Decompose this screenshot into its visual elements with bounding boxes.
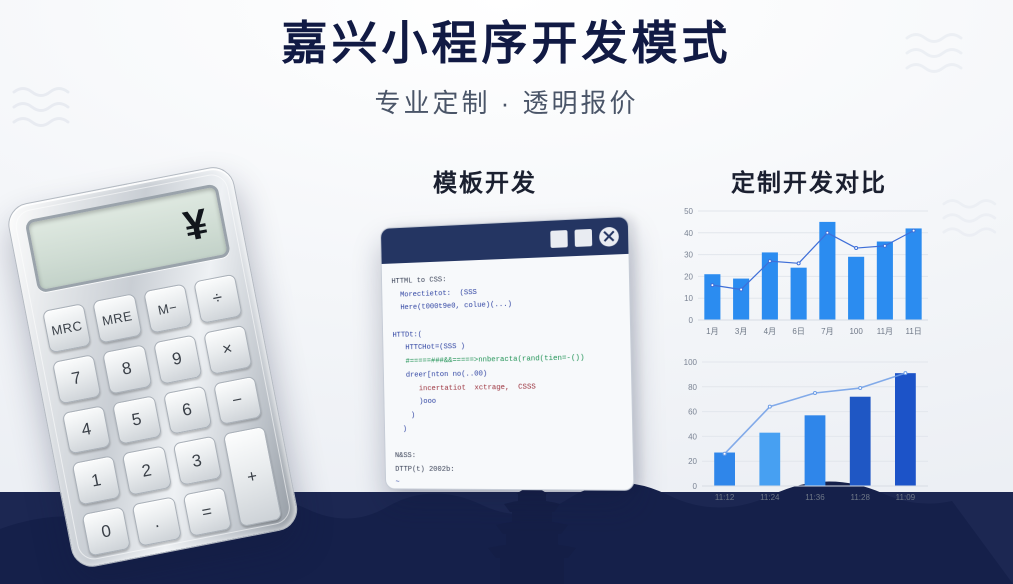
svg-text:11:36: 11:36 (805, 493, 825, 502)
calc-key-2[interactable]: 2 (122, 446, 172, 496)
svg-text:100: 100 (684, 358, 698, 367)
code-line: N&SS: (395, 452, 416, 460)
calculator: ¥ MRC MRE M− ÷ 7 8 9 × 4 5 6 − 1 2 3 + 0 (5, 150, 376, 584)
calc-key-subtract[interactable]: − (213, 375, 263, 425)
calc-key-add[interactable]: + (223, 426, 283, 527)
code-line: #=====###&&=====>nnberacta(rand(tien=-()… (393, 354, 585, 366)
code-line: HTTDt:( (392, 331, 422, 340)
svg-text:11:24: 11:24 (760, 493, 780, 502)
svg-text:30: 30 (684, 251, 693, 260)
svg-text:7月: 7月 (821, 327, 833, 336)
chart-compare-monthly: 010203040501月3月4月6日7月10011月11日 (672, 205, 934, 340)
calculator-keypad: MRC MRE M− ÷ 7 8 9 × 4 5 6 − 1 2 3 + 0 .… (42, 274, 282, 557)
calc-key-6[interactable]: 6 (162, 385, 212, 435)
close-icon[interactable] (599, 226, 619, 246)
svg-text:20: 20 (688, 457, 697, 466)
calc-key-m-minus[interactable]: M− (143, 283, 193, 333)
code-line: ~ (395, 479, 399, 487)
code-line: Morectietot: (SSS (392, 289, 477, 300)
svg-text:80: 80 (688, 383, 697, 392)
calc-key-mrc[interactable]: MRC (42, 303, 92, 353)
calc-key-1[interactable]: 1 (72, 456, 122, 506)
section-heading-compare: 定制开发对比 (731, 163, 887, 198)
calculator-display-value: ¥ (180, 202, 211, 248)
calc-key-9[interactable]: 9 (153, 334, 203, 384)
svg-text:6日: 6日 (792, 327, 804, 336)
calc-key-5[interactable]: 5 (112, 395, 162, 445)
code-line: )ooo (394, 398, 436, 406)
wave-decoration-right (942, 195, 1008, 241)
svg-text:20: 20 (684, 272, 693, 281)
svg-text:3月: 3月 (735, 327, 747, 336)
page-title: 嘉兴小程序开发模式 (0, 16, 1013, 71)
code-line: DTTP(t) 2002b: (395, 466, 455, 474)
calc-key-multiply[interactable]: × (203, 324, 253, 374)
section-heading-template: 模板开发 (433, 163, 537, 198)
maximize-icon[interactable] (575, 228, 593, 246)
svg-text:40: 40 (688, 432, 697, 441)
code-line: ) (394, 425, 407, 433)
svg-text:11:28: 11:28 (850, 493, 870, 502)
calc-key-8[interactable]: 8 (102, 344, 152, 394)
svg-text:11日: 11日 (905, 327, 921, 336)
code-line: Here(t000t9e0, colue)(...) (392, 301, 512, 313)
calc-key-decimal[interactable]: . (132, 497, 182, 547)
code-line: HTTML to CSS: (391, 276, 446, 286)
calc-key-7[interactable]: 7 (52, 354, 102, 404)
minimize-icon[interactable] (550, 230, 568, 248)
calculator-body: ¥ MRC MRE M− ÷ 7 8 9 × 4 5 6 − 1 2 3 + 0 (5, 163, 301, 570)
svg-text:0: 0 (693, 482, 698, 491)
calc-key-3[interactable]: 3 (172, 436, 222, 486)
code-line: ) (394, 412, 415, 420)
svg-text:4月: 4月 (764, 327, 776, 336)
code-content: HTTML to CSS: Morectietot: (SSS Here(t00… (382, 254, 635, 491)
poster-canvas: 嘉兴小程序开发模式 专业定制 · 透明报价 模板开发 定制开发对比 ¥ MRC … (0, 0, 1013, 584)
svg-text:1月: 1月 (706, 327, 718, 336)
calc-key-4[interactable]: 4 (62, 405, 112, 455)
svg-text:0: 0 (689, 316, 694, 325)
svg-text:50: 50 (684, 207, 693, 216)
code-line: incertatiot xctrage, CSSS (394, 383, 536, 393)
page-subtitle: 专业定制 · 透明报价 (0, 83, 1013, 120)
svg-text:10: 10 (684, 294, 693, 303)
charts-panel: 010203040501月3月4月6日7月10011月11日 020406080… (672, 205, 934, 505)
calc-key-mre[interactable]: MRE (92, 293, 142, 343)
svg-text:11:09: 11:09 (896, 493, 916, 502)
code-line: HTTCHot=(SSS ) (393, 343, 465, 353)
svg-text:60: 60 (688, 408, 697, 417)
poster-header: 嘉兴小程序开发模式 专业定制 · 透明报价 (0, 16, 1013, 120)
calc-key-0[interactable]: 0 (82, 506, 132, 556)
code-line: dreer[nton no(..00) (393, 370, 487, 380)
calc-key-equals[interactable]: = (182, 487, 232, 537)
svg-text:40: 40 (684, 229, 693, 238)
svg-text:11月: 11月 (877, 327, 893, 336)
svg-text:100: 100 (849, 327, 863, 336)
calc-key-divide[interactable]: ÷ (193, 274, 243, 324)
svg-text:11:12: 11:12 (715, 493, 735, 502)
calculator-display: ¥ (25, 183, 232, 293)
chart-growth-timeline: 02040608010011:1211:2411:3611:2811:09 (672, 356, 934, 506)
code-editor-window: HTTML to CSS: Morectietot: (SSS Here(t00… (380, 216, 635, 491)
